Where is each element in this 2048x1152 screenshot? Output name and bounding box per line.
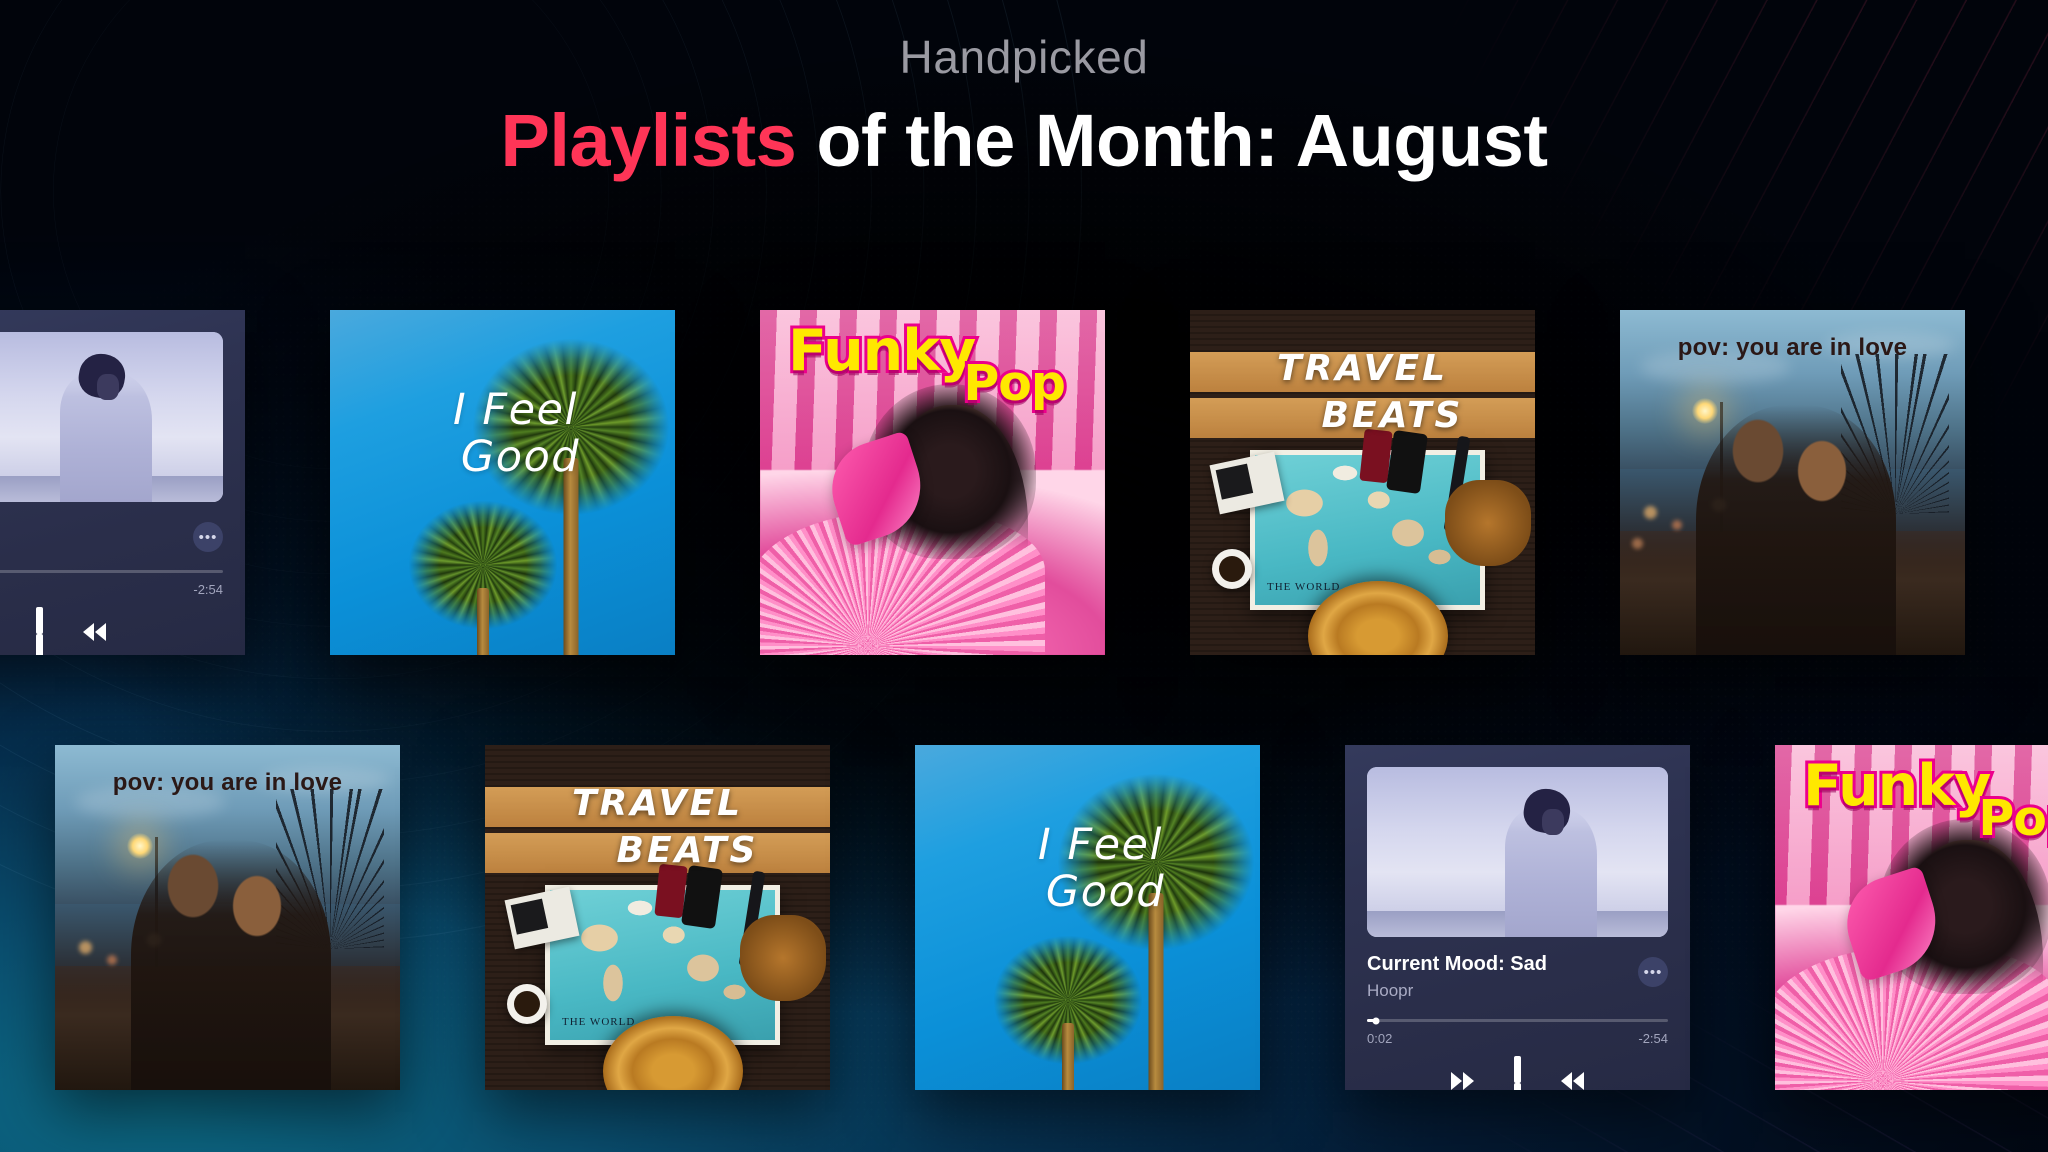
player-meta: Current Mood: Sad Hoopr •••	[1367, 953, 1668, 1001]
player-controls	[0, 607, 223, 655]
progress-bar[interactable]	[1367, 1019, 1668, 1022]
coffee-cup-icon	[1212, 549, 1252, 589]
player-times: 0:02 -2:54	[1367, 1031, 1668, 1046]
time-remaining: -2:54	[193, 582, 223, 597]
album-art-face	[97, 374, 119, 400]
player-times: -2:54	[0, 582, 223, 597]
coffee-cup-icon	[507, 984, 547, 1024]
backpack-icon	[740, 915, 826, 1001]
card-caption-funky-pop: FunkyPop	[760, 324, 1105, 378]
player-body: d: Sad ••• -2:54	[0, 310, 245, 655]
page-title-rest: of the Month: August	[796, 99, 1547, 182]
playlist-card-pov-you-are-in-love[interactable]: pov: you are in love	[55, 745, 400, 1090]
caption-line-1: I Feel	[356, 388, 675, 433]
track-title: Current Mood: Sad	[1367, 953, 1547, 976]
card-caption-travel: TRAVEL	[485, 783, 830, 824]
playlist-card-current-mood-sad[interactable]: d: Sad ••• -2:54	[0, 310, 245, 655]
playlist-card-travel-beats[interactable]: THE WORLD TRAVEL BEATS	[485, 745, 830, 1090]
palm-tree-short-icon	[993, 935, 1143, 1090]
caption-pop: Pop	[1978, 796, 2048, 843]
map-label: THE WORLD	[1267, 581, 1340, 593]
time-remaining: -2:54	[1638, 1031, 1668, 1046]
card-caption-beats: BEATS	[485, 830, 830, 871]
album-art	[0, 332, 223, 502]
playlist-row-1: d: Sad ••• -2:54	[0, 310, 1965, 655]
bokeh-light	[1632, 538, 1643, 549]
playlist-row-2: pov: you are in love THE WORLD TRAVEL BE…	[55, 745, 2048, 1090]
bokeh-light	[107, 955, 117, 965]
page-title-highlight: Playlists	[500, 99, 796, 182]
forward-icon[interactable]	[1561, 1071, 1587, 1091]
card-caption-i-feel-good: I Feel Good	[330, 388, 675, 479]
playlist-card-i-feel-good[interactable]: I Feel Good	[915, 745, 1260, 1090]
album-art	[1367, 767, 1668, 937]
caption-line-2: Good	[941, 870, 1260, 915]
album-art-face	[1542, 809, 1564, 835]
player-meta: d: Sad •••	[0, 518, 223, 552]
playlist-card-funky-pop[interactable]: FunkyPop	[760, 310, 1105, 655]
playlist-card-pov-you-are-in-love[interactable]: pov: you are in love	[1620, 310, 1965, 655]
playlist-card-i-feel-good[interactable]: I Feel Good	[330, 310, 675, 655]
player-controls	[1367, 1056, 1668, 1090]
bokeh-light	[1644, 506, 1657, 519]
caption-line-1: I Feel	[941, 823, 1260, 868]
player-body: Current Mood: Sad Hoopr ••• 0:02 -2:54	[1345, 745, 1690, 1090]
palm-tree-short-icon	[408, 500, 558, 655]
map-label: THE WORLD	[562, 1016, 635, 1028]
bokeh-light	[79, 941, 92, 954]
street-lamp-icon	[1692, 398, 1718, 424]
caption-funky: Funky	[1803, 759, 1990, 813]
more-options-button[interactable]: •••	[1638, 957, 1668, 987]
card-caption-pov-love: pov: you are in love	[55, 769, 400, 797]
poster-stage: Handpicked Playlists of the Month: Augus…	[0, 0, 2048, 1152]
page-title: Playlists of the Month: August	[0, 102, 2048, 180]
couple-photo	[131, 840, 331, 1090]
card-caption-travel: TRAVEL	[1190, 348, 1535, 389]
time-elapsed: 0:02	[1367, 1031, 1392, 1046]
forward-icon[interactable]	[83, 622, 109, 647]
track-artist: Hoopr	[1367, 981, 1547, 1001]
caption-line-2: Good	[356, 435, 675, 480]
header-kicker: Handpicked	[0, 34, 2048, 80]
more-options-button[interactable]: •••	[193, 522, 223, 552]
street-lamp-icon	[127, 833, 153, 859]
card-caption-beats: BEATS	[1190, 395, 1535, 436]
rewind-icon[interactable]	[1448, 1071, 1474, 1091]
progress-bar[interactable]	[0, 570, 223, 573]
backpack-icon	[1445, 480, 1531, 566]
playlist-card-travel-beats[interactable]: THE WORLD TRAVEL BEATS	[1190, 310, 1535, 655]
caption-pop: Pop	[963, 361, 1065, 408]
card-caption-i-feel-good: I Feel Good	[915, 823, 1260, 914]
couple-photo	[1696, 405, 1896, 655]
card-caption-funky-pop: FunkyPop	[1775, 759, 2048, 813]
card-caption-pov-love: pov: you are in love	[1620, 334, 1965, 362]
caption-funky: Funky	[788, 324, 975, 378]
bokeh-light	[1672, 520, 1682, 530]
playlist-card-current-mood-sad[interactable]: Current Mood: Sad Hoopr ••• 0:02 -2:54	[1345, 745, 1690, 1090]
playlist-card-funky-pop[interactable]: FunkyPop	[1775, 745, 2048, 1090]
poster-header: Handpicked Playlists of the Month: Augus…	[0, 34, 2048, 180]
pause-icon[interactable]	[36, 607, 43, 655]
pause-icon[interactable]	[1514, 1056, 1521, 1090]
